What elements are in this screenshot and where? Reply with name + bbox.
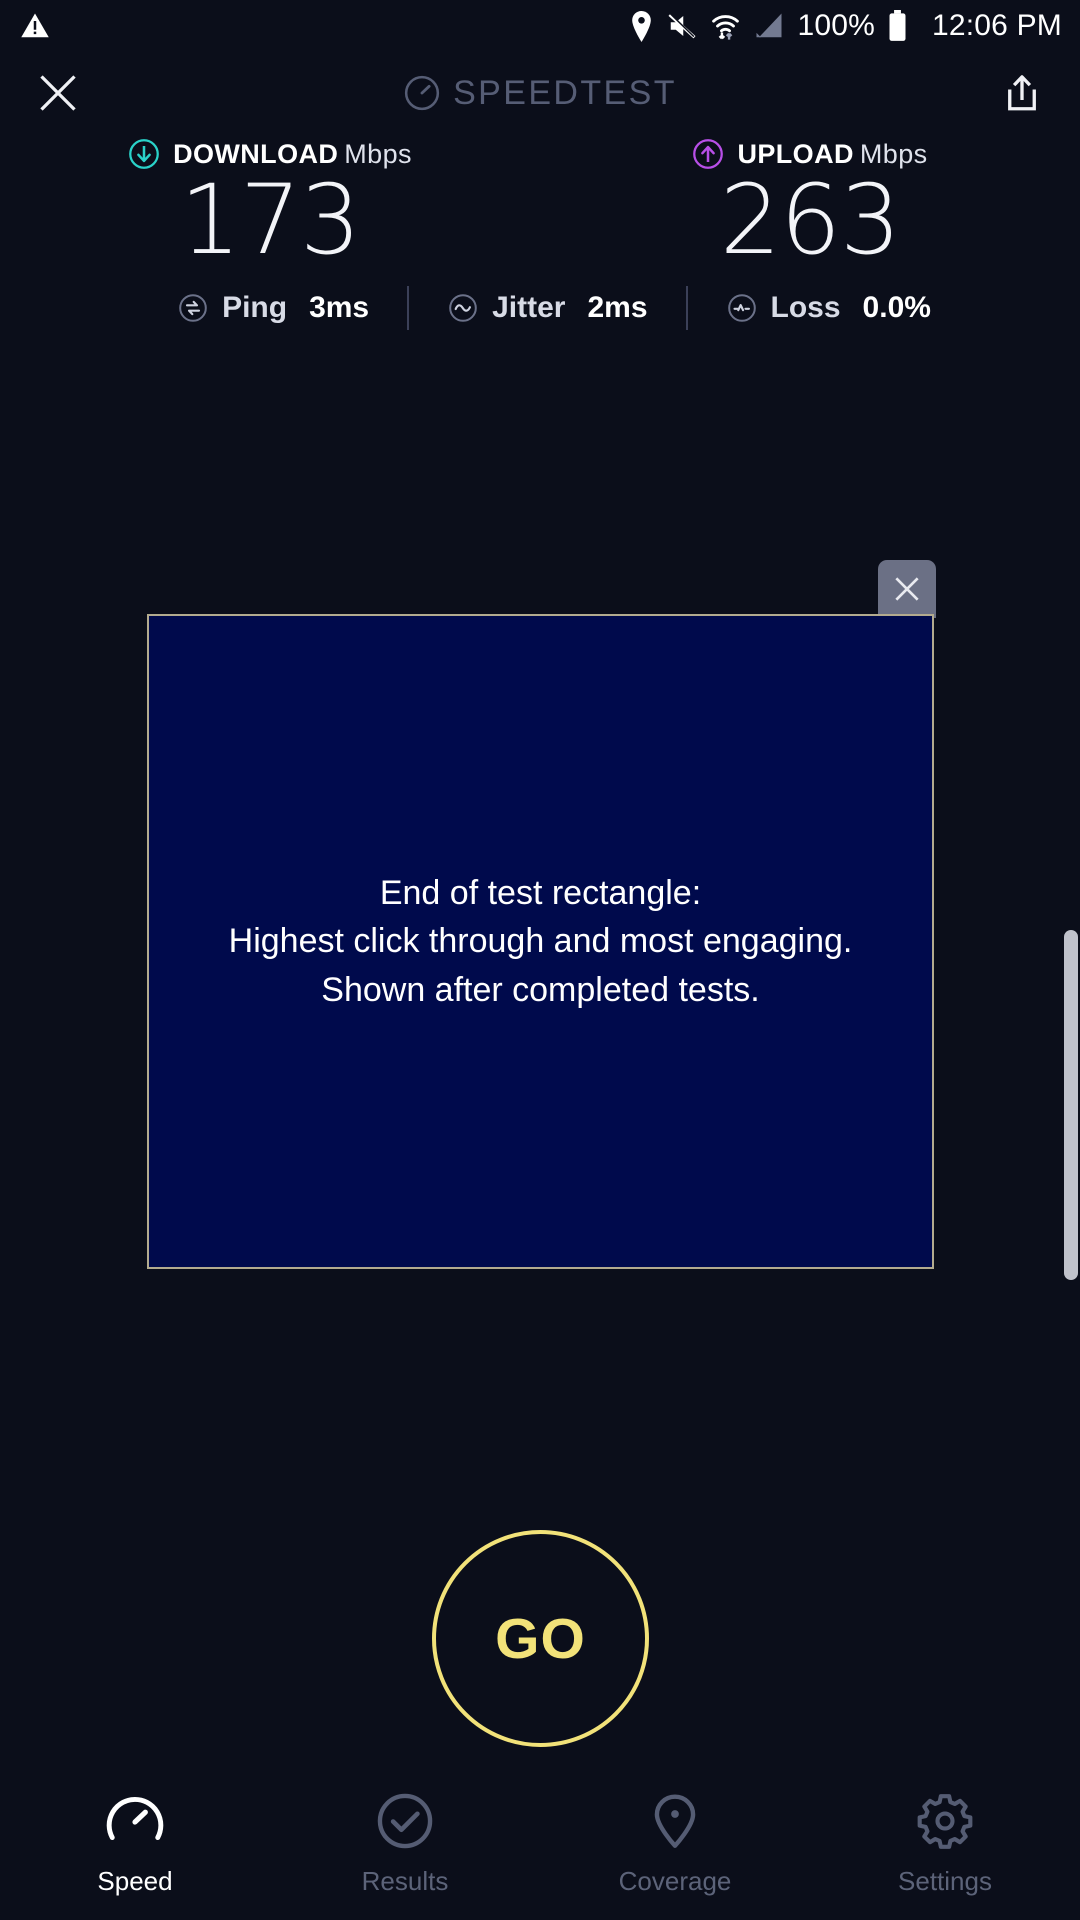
nav-item-coverage[interactable]: Coverage xyxy=(540,1790,810,1897)
loss-stat: Loss 0.0% xyxy=(726,291,931,325)
check-circle-icon xyxy=(374,1790,436,1852)
status-bar: 100% 12:06 PM xyxy=(0,0,1080,52)
nav-label-settings: Settings xyxy=(898,1866,992,1897)
page-scrollbar-thumb[interactable] xyxy=(1064,930,1078,1280)
ad-banner[interactable]: End of test rectangle: Highest click thr… xyxy=(147,614,934,1269)
download-upload-row: DOWNLOADMbps 173 UPLOADMbps 263 xyxy=(0,138,1080,270)
upload-value: 263 xyxy=(720,172,900,270)
speedtest-app-screen: 100% 12:06 PM SPEEDTEST xyxy=(0,0,1080,1920)
app-header: SPEEDTEST xyxy=(0,52,1080,134)
nav-item-settings[interactable]: Settings xyxy=(810,1790,1080,1897)
go-button-label: GO xyxy=(495,1606,586,1672)
close-button[interactable] xyxy=(30,65,86,121)
jitter-wave-icon xyxy=(447,292,479,324)
bottom-navigation-bar: Speed Results Coverage xyxy=(0,1780,1080,1920)
ping-value: 3ms xyxy=(309,291,369,325)
ad-text: End of test rectangle: Highest click thr… xyxy=(229,869,853,1014)
jitter-stat: Jitter 2ms xyxy=(447,291,647,325)
battery-full-icon xyxy=(888,10,907,42)
nav-item-speed[interactable]: Speed xyxy=(0,1790,270,1897)
status-bar-right: 100% 12:06 PM xyxy=(629,9,1062,43)
nav-label-coverage: Coverage xyxy=(619,1866,732,1897)
loss-value: 0.0% xyxy=(863,291,931,325)
loss-dash-icon xyxy=(726,292,758,324)
ping-jitter-loss-row: Ping 3ms Jitter 2ms xyxy=(0,278,1080,338)
warning-triangle-icon xyxy=(20,11,50,41)
map-pin-icon xyxy=(644,1790,706,1852)
brand-title-group: SPEEDTEST xyxy=(0,52,1080,134)
status-bar-left xyxy=(20,11,50,41)
stat-divider xyxy=(686,286,688,330)
ping-exchange-icon xyxy=(177,292,209,324)
share-button[interactable] xyxy=(994,65,1050,121)
jitter-value: 2ms xyxy=(587,291,647,325)
speedometer-icon xyxy=(104,1790,166,1852)
download-arrow-circle-icon xyxy=(128,138,160,170)
nav-label-speed: Speed xyxy=(97,1866,172,1897)
nav-item-results[interactable]: Results xyxy=(270,1790,540,1897)
status-bar-clock: 12:06 PM xyxy=(932,9,1062,43)
mute-bell-icon xyxy=(667,11,697,41)
ping-stat: Ping 3ms xyxy=(177,291,369,325)
gear-icon xyxy=(914,1790,976,1852)
nav-label-results: Results xyxy=(362,1866,449,1897)
location-pin-icon xyxy=(629,11,654,42)
loss-label: Loss xyxy=(771,291,841,325)
go-button[interactable]: GO xyxy=(432,1530,649,1747)
ping-label: Ping xyxy=(222,291,287,325)
speedometer-icon xyxy=(403,74,441,112)
battery-percent-label: 100% xyxy=(797,9,875,43)
download-value: 173 xyxy=(180,172,360,270)
upload-metric: UPLOADMbps 263 xyxy=(540,138,1080,270)
page-title: SPEEDTEST xyxy=(453,74,677,113)
results-panel: DOWNLOADMbps 173 UPLOADMbps 263 xyxy=(0,138,1080,338)
wifi-transfer-icon xyxy=(710,11,741,42)
stat-divider xyxy=(407,286,409,330)
ad-close-button[interactable] xyxy=(878,560,936,618)
download-metric: DOWNLOADMbps 173 xyxy=(0,138,540,270)
cell-signal-icon xyxy=(754,12,784,40)
jitter-label: Jitter xyxy=(492,291,565,325)
